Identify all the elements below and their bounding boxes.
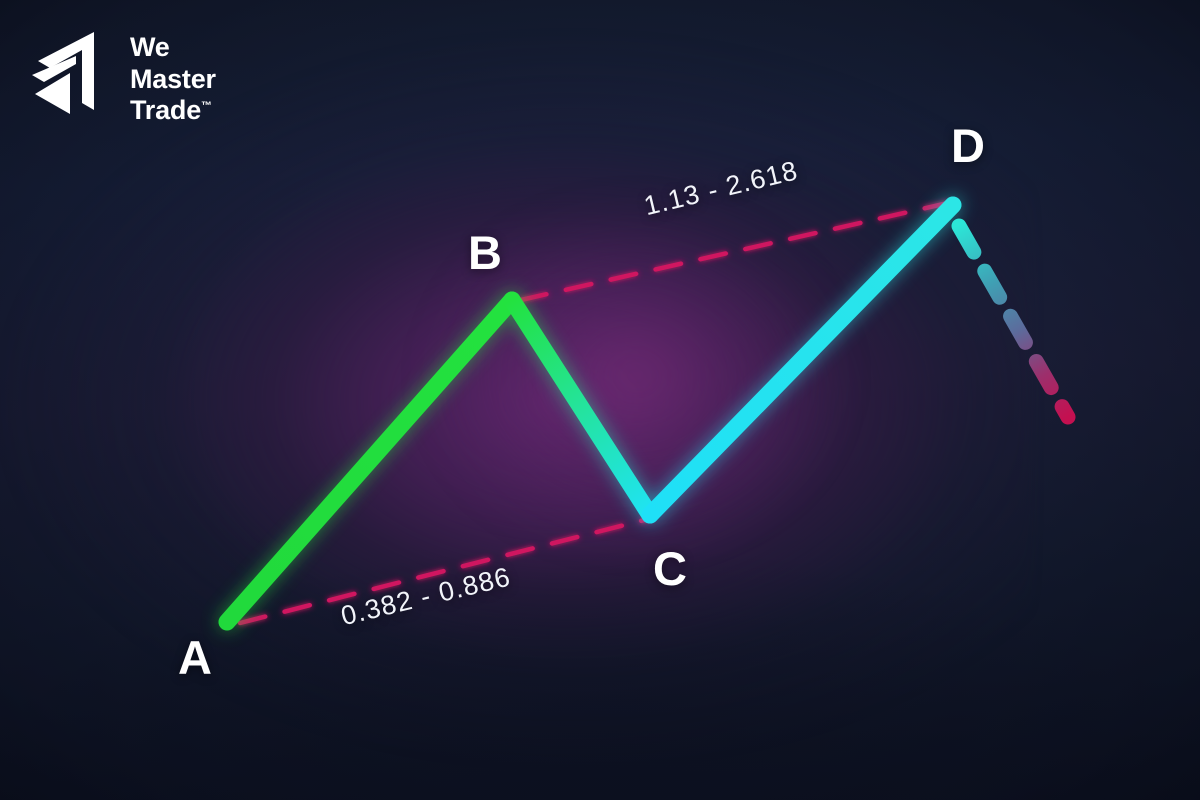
brand-logo: We Master Trade™	[32, 26, 216, 127]
arrow-chevron-logo-icon	[32, 26, 116, 118]
leg-cd	[650, 205, 953, 515]
point-label-a: A	[178, 634, 212, 681]
brand-wordmark: We Master Trade™	[130, 26, 216, 127]
diagram-canvas: We Master Trade™	[0, 0, 1200, 800]
brand-line-2: Master	[130, 64, 216, 96]
brand-line-3-wrap: Trade™	[130, 95, 216, 127]
point-label-b: B	[468, 229, 502, 276]
leg-bc	[512, 300, 650, 515]
trademark-symbol: ™	[201, 100, 212, 112]
point-label-c: C	[653, 545, 687, 592]
projection-tail	[959, 226, 1068, 417]
brand-line-1: We	[130, 32, 216, 64]
brand-line-3: Trade	[130, 95, 201, 125]
point-label-d: D	[951, 122, 985, 169]
